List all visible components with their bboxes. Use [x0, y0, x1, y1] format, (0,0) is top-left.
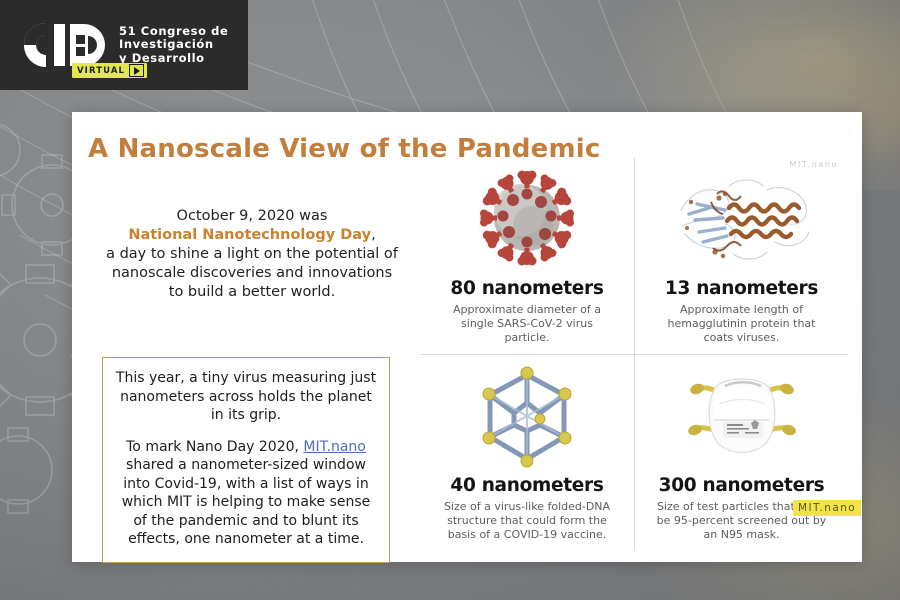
- n95-respirator-mask-image: [667, 361, 817, 473]
- virtual-badge-label: VIRTUAL: [77, 66, 125, 76]
- intro-line-3: a day to shine a light on the potential …: [106, 246, 398, 262]
- grid-cell-protein: MIT.nano: [634, 158, 848, 354]
- intro-line-1: October 9, 2020 was: [177, 208, 328, 224]
- callout-paragraph-2: To mark Nano Day 2020, MIT.nano shared a…: [115, 438, 377, 549]
- intro-line-5: to build a better world.: [169, 284, 335, 300]
- intro-line-4: nanoscale discoveries and innovations: [112, 265, 392, 281]
- cell-caption: Approximate diameter of a single SARS-Co…: [437, 303, 617, 345]
- grid-cell-n95-mask: 300 nanometers Size of test particles th…: [634, 354, 848, 550]
- congress-line-2: Investigación: [119, 37, 214, 51]
- grid-cell-dna-structure: 40 nanometers Size of a virus-like folde…: [420, 354, 634, 550]
- callout-paragraph-1: This year, a tiny virus measuring just n…: [115, 369, 377, 425]
- intro-paragraph: October 9, 2020 was National Nanotechnol…: [82, 207, 422, 302]
- callout-p2-before: To mark Nano Day 2020,: [126, 439, 299, 455]
- intro-highlight-punct: ,: [371, 227, 376, 243]
- presentation-slide: A Nanoscale View of the Pandemic October…: [72, 112, 862, 562]
- cell-caption: Approximate length of hemagglutinin prot…: [652, 303, 832, 345]
- nanoscale-comparison-grid: 80 nanometers Approximate diameter of a …: [420, 158, 848, 550]
- cell-caption: Size of a virus-like folded-DNA structur…: [437, 500, 617, 542]
- folded-dna-polyhedron-image: [468, 361, 586, 473]
- congress-line-1: 51 Congreso de: [119, 24, 228, 38]
- screenshot-root: 51 Congreso de Investigación y Desarroll…: [0, 0, 900, 600]
- cell-headline: 80 nanometers: [450, 278, 603, 299]
- hemagglutinin-protein-ribbon-diagram-image: [667, 164, 817, 276]
- mit-nano-link[interactable]: MIT.nano: [303, 439, 365, 455]
- callout-p2-after: shared a nanometer-sized window into Cov…: [122, 457, 371, 547]
- sars-cov-2-virus-particle-image: [465, 164, 589, 276]
- mit-nano-watermark: MIT.nano: [790, 160, 838, 169]
- mit-nano-highlight-tag: MIT.nano: [793, 500, 861, 516]
- cell-headline: 13 nanometers: [665, 278, 818, 299]
- intro-highlight: National Nanotechnology Day: [128, 227, 371, 243]
- callout-box: This year, a tiny virus measuring just n…: [102, 357, 390, 563]
- play-icon: [129, 64, 144, 77]
- virtual-badge: VIRTUAL: [72, 63, 147, 78]
- cid-logo-plate: 51 Congreso de Investigación y Desarroll…: [0, 0, 248, 90]
- grid-cell-virus: 80 nanometers Approximate diameter of a …: [420, 158, 634, 354]
- cell-headline: 300 nanometers: [659, 475, 825, 496]
- congress-title: 51 Congreso de Investigación y Desarroll…: [119, 25, 228, 66]
- cell-headline: 40 nanometers: [450, 475, 603, 496]
